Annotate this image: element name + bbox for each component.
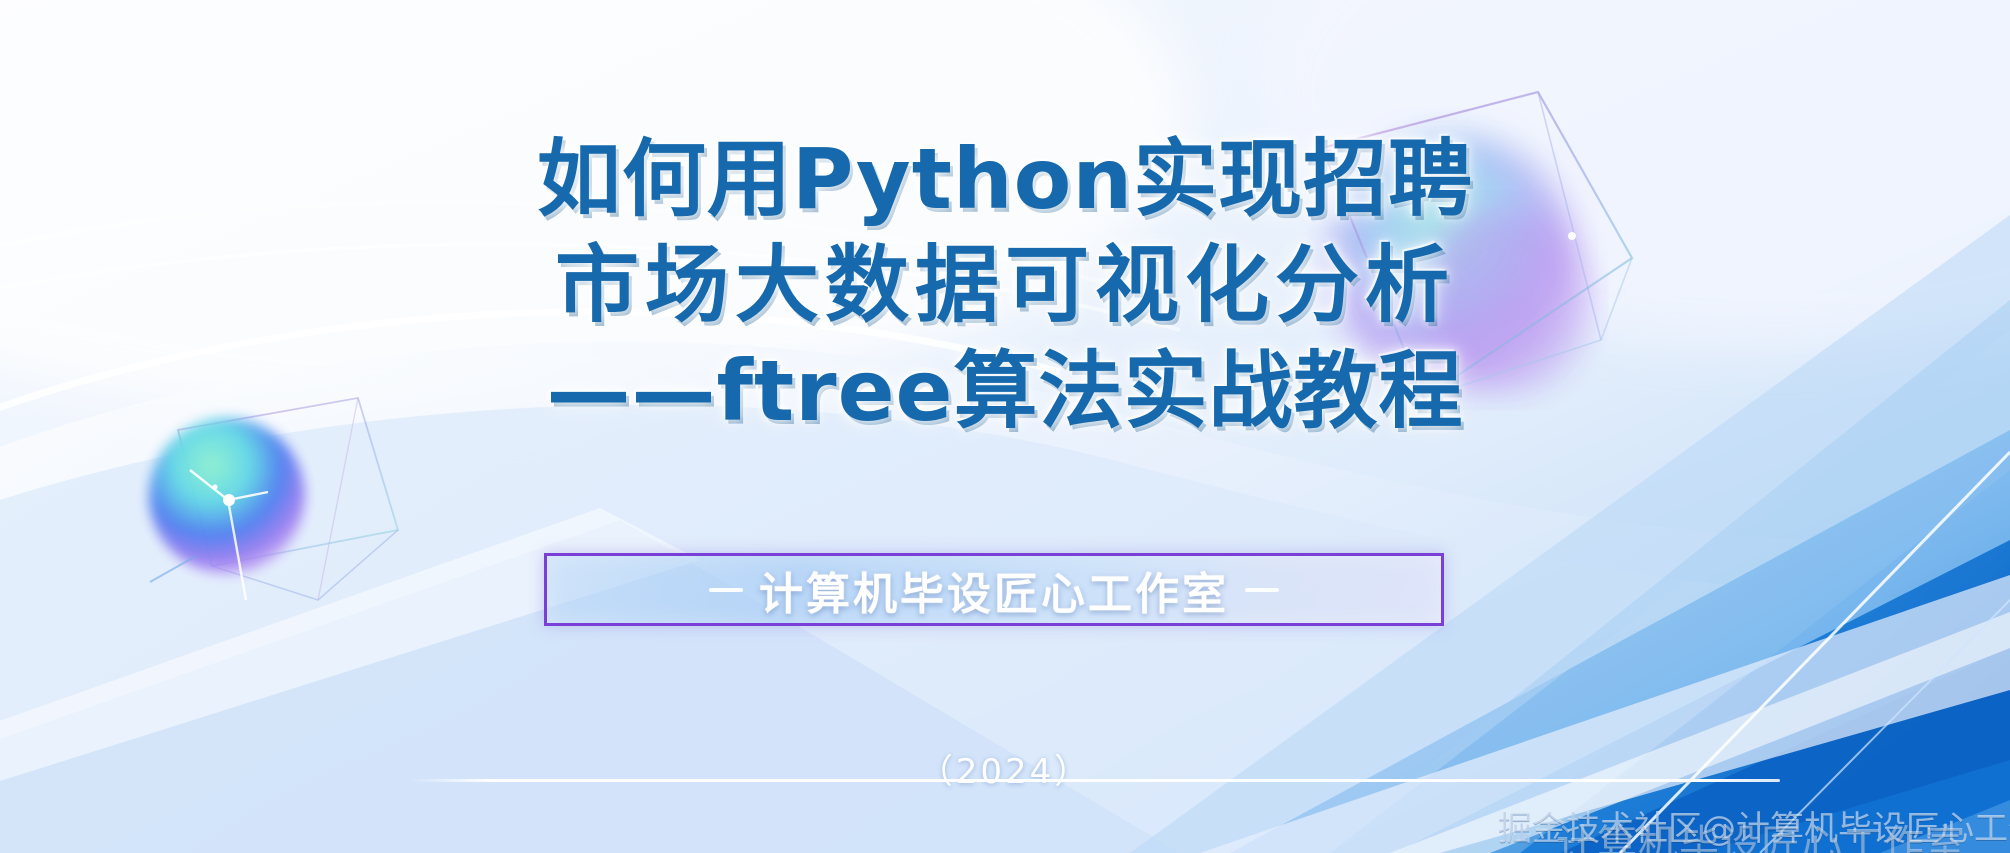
subtitle-text-row: 计算机毕设匠心工作室	[709, 558, 1279, 622]
bottom-divider-line	[410, 779, 1780, 782]
subtitle-frame: 计算机毕设匠心工作室	[544, 553, 1444, 626]
title-line-1: 如何用Python实现招聘	[155, 126, 1855, 232]
dash-right-icon	[1245, 588, 1279, 592]
title-block: 如何用Python实现招聘 市场大数据可视化分析 ——ftree算法实战教程	[155, 126, 1855, 444]
slide-content: 如何用Python实现招聘 市场大数据可视化分析 ——ftree算法实战教程 计…	[0, 0, 2010, 853]
dash-left-icon	[709, 588, 743, 592]
year-label: （2024）	[0, 744, 2010, 793]
watermark-primary: 掘金技术社区@计算机毕设匠心工作室	[1498, 801, 2010, 850]
studio-name: 计算机毕设匠心工作室	[759, 558, 1229, 622]
watermark-secondary: 计算机毕设匠心工作室	[1556, 812, 1966, 853]
title-line-3: ——ftree算法实战教程	[155, 338, 1855, 444]
slide-canvas: 如何用Python实现招聘 市场大数据可视化分析 ——ftree算法实战教程 计…	[0, 0, 2010, 853]
title-line-2: 市场大数据可视化分析	[155, 232, 1855, 338]
